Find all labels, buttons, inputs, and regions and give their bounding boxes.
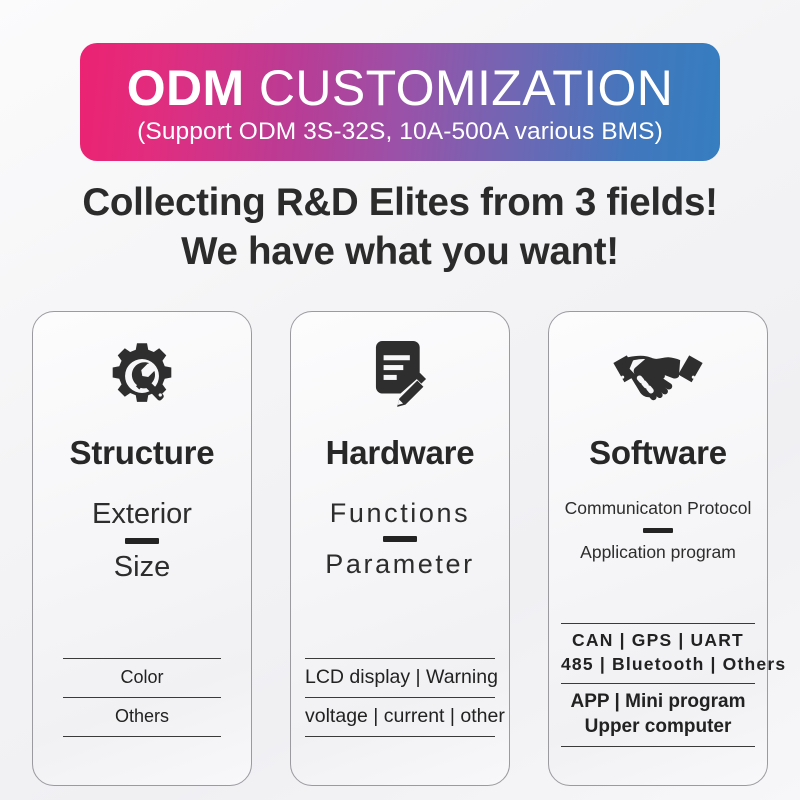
page-headline: Collecting R&D Elites from 3 fields! We … [0, 178, 800, 276]
card-software-summary-top: Communicaton Protocol [565, 498, 752, 519]
spec-text: LCD display | Warning [305, 666, 495, 689]
spec-row: Color [63, 658, 221, 697]
spec-row: Others [63, 697, 221, 737]
spec-text: Color [63, 667, 221, 688]
card-hardware-summary: Functions Parameter [305, 498, 495, 580]
spec-row: APP | Mini program Upper computer [561, 683, 755, 747]
card-software-summary-bottom: Application program [580, 542, 736, 563]
spec-text: CAN | GPS | UART [561, 629, 755, 653]
spec-text: Others [63, 706, 221, 727]
card-hardware-spec-table: LCD display | Warning voltage | current … [305, 658, 495, 737]
spec-row: CAN | GPS | UART 485 | Bluetooth | Other… [561, 623, 755, 682]
odm-customization-banner: ODM CUSTOMIZATION (Support ODM 3S-32S, 1… [80, 43, 720, 161]
card-software[interactable]: Software Communicaton Protocol Applicati… [548, 311, 768, 786]
spec-row: LCD display | Warning [305, 658, 495, 697]
document-pencil-icon [367, 340, 433, 412]
spec-text: voltage | current | other [305, 705, 495, 728]
card-structure-summary-top: Exterior [92, 498, 192, 531]
banner-subtitle: (Support ODM 3S-32S, 10A-500A various BM… [137, 118, 663, 146]
card-hardware[interactable]: Hardware Functions Parameter LCD display… [290, 311, 510, 786]
banner-title-light: CUSTOMIZATION [245, 60, 674, 116]
card-structure-summary-bottom: Size [114, 551, 170, 584]
headline-line-1: Collecting R&D Elites from 3 fields! [0, 178, 800, 227]
card-structure-spec-table: Color Others [63, 658, 221, 737]
spec-row: voltage | current | other [305, 697, 495, 737]
dash-divider-icon [125, 538, 159, 544]
card-title-structure: Structure [70, 434, 215, 472]
gear-wrench-icon [107, 340, 177, 412]
card-software-summary: Communicaton Protocol Application progra… [563, 498, 753, 563]
card-title-hardware: Hardware [326, 434, 475, 472]
dash-divider-icon [383, 536, 417, 542]
banner-title: ODM CUSTOMIZATION [127, 63, 674, 114]
card-software-spec-table: CAN | GPS | UART 485 | Bluetooth | Other… [561, 623, 755, 747]
spec-text: 485 | Bluetooth | Others [561, 653, 755, 677]
card-hardware-summary-bottom: Parameter [325, 549, 474, 580]
banner-title-strong: ODM [127, 60, 245, 116]
card-title-software: Software [589, 434, 727, 472]
handshake-icon [610, 340, 706, 412]
dash-divider-icon [643, 528, 673, 533]
spec-text: APP | Mini program [561, 689, 755, 715]
feature-card-group: Structure Exterior Size Color Others [32, 311, 768, 786]
card-structure-summary: Exterior Size [47, 498, 237, 584]
card-hardware-summary-top: Functions [330, 498, 470, 529]
card-structure[interactable]: Structure Exterior Size Color Others [32, 311, 252, 786]
spec-text: Upper computer [561, 714, 755, 740]
headline-line-2: We have what you want! [0, 227, 800, 276]
